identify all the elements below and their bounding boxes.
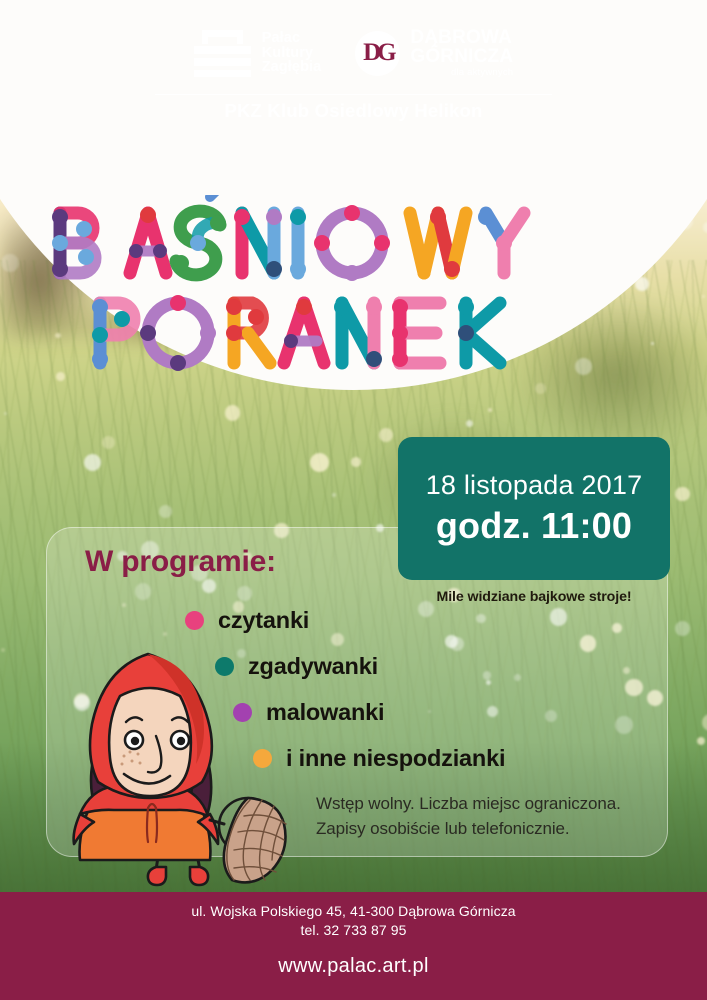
title-artwork (34, 195, 674, 385)
footer-address: ul. Wojska Polskiego 45, 41-300 Dąbrowa … (0, 903, 707, 919)
dg-tagline: dla aktywnych (410, 67, 513, 78)
logo-row: Pałac Kultury Zagłębia DG DĄBROWA GÓRNIC… (0, 28, 707, 78)
footer: ul. Wojska Polskiego 45, 41-300 Dąbrowa … (0, 892, 707, 1000)
header-divider (155, 94, 552, 95)
pkz-line-1: Pałac (262, 31, 322, 46)
dg-monogram-circle-icon: DG (355, 31, 400, 76)
program-item-label: i inne niespodzianki (286, 745, 505, 772)
palac-kultury-zaglebia-label: Pałac Kultury Zagłębia (262, 31, 322, 75)
pkz-line-3: Zagłębia (262, 60, 322, 75)
building-bars-icon (194, 30, 251, 77)
poster: Pałac Kultury Zagłębia DG DĄBROWA GÓRNIC… (0, 0, 707, 1000)
dg-monogram-text: DG (355, 31, 400, 76)
poster-title (0, 195, 707, 385)
footer-website[interactable]: www.palac.art.pl (0, 955, 707, 978)
program-heading: W programie: (85, 545, 276, 579)
event-date: 18 listopada 2017 (426, 470, 643, 501)
footer-phone: tel. 32 733 87 95 (0, 922, 707, 938)
dabrowa-gornicza-logo: DG DĄBROWA GÓRNICZA dla aktywnych (355, 28, 513, 78)
date-box: 18 listopada 2017 godz. 11:00 (398, 437, 670, 580)
little-red-riding-hood-illustration (52, 630, 302, 892)
dg-line-1: DĄBROWA (410, 28, 513, 47)
bullet-dot-icon (185, 611, 204, 630)
header-subtitle: PKZ Klub Osiedlowy Helikon (0, 100, 707, 122)
header: Pałac Kultury Zagłębia DG DĄBROWA GÓRNIC… (0, 0, 707, 140)
admission-info: Wstęp wolny. Liczba miejsc ograniczona. … (316, 791, 621, 841)
palac-kultury-zaglebia-logo: Pałac Kultury Zagłębia (194, 30, 322, 77)
pkz-line-2: Kultury (262, 46, 322, 61)
dg-line-2: GÓRNICZA (410, 47, 513, 66)
event-time: godz. 11:00 (436, 505, 632, 547)
admission-info-line-1: Wstęp wolny. Liczba miejsc ograniczona. (316, 791, 621, 816)
program-item: i inne niespodzianki (253, 735, 585, 781)
dabrowa-gornicza-label: DĄBROWA GÓRNICZA dla aktywnych (410, 28, 513, 78)
admission-info-line-2: Zapisy osobiście lub telefonicznie. (316, 816, 621, 841)
